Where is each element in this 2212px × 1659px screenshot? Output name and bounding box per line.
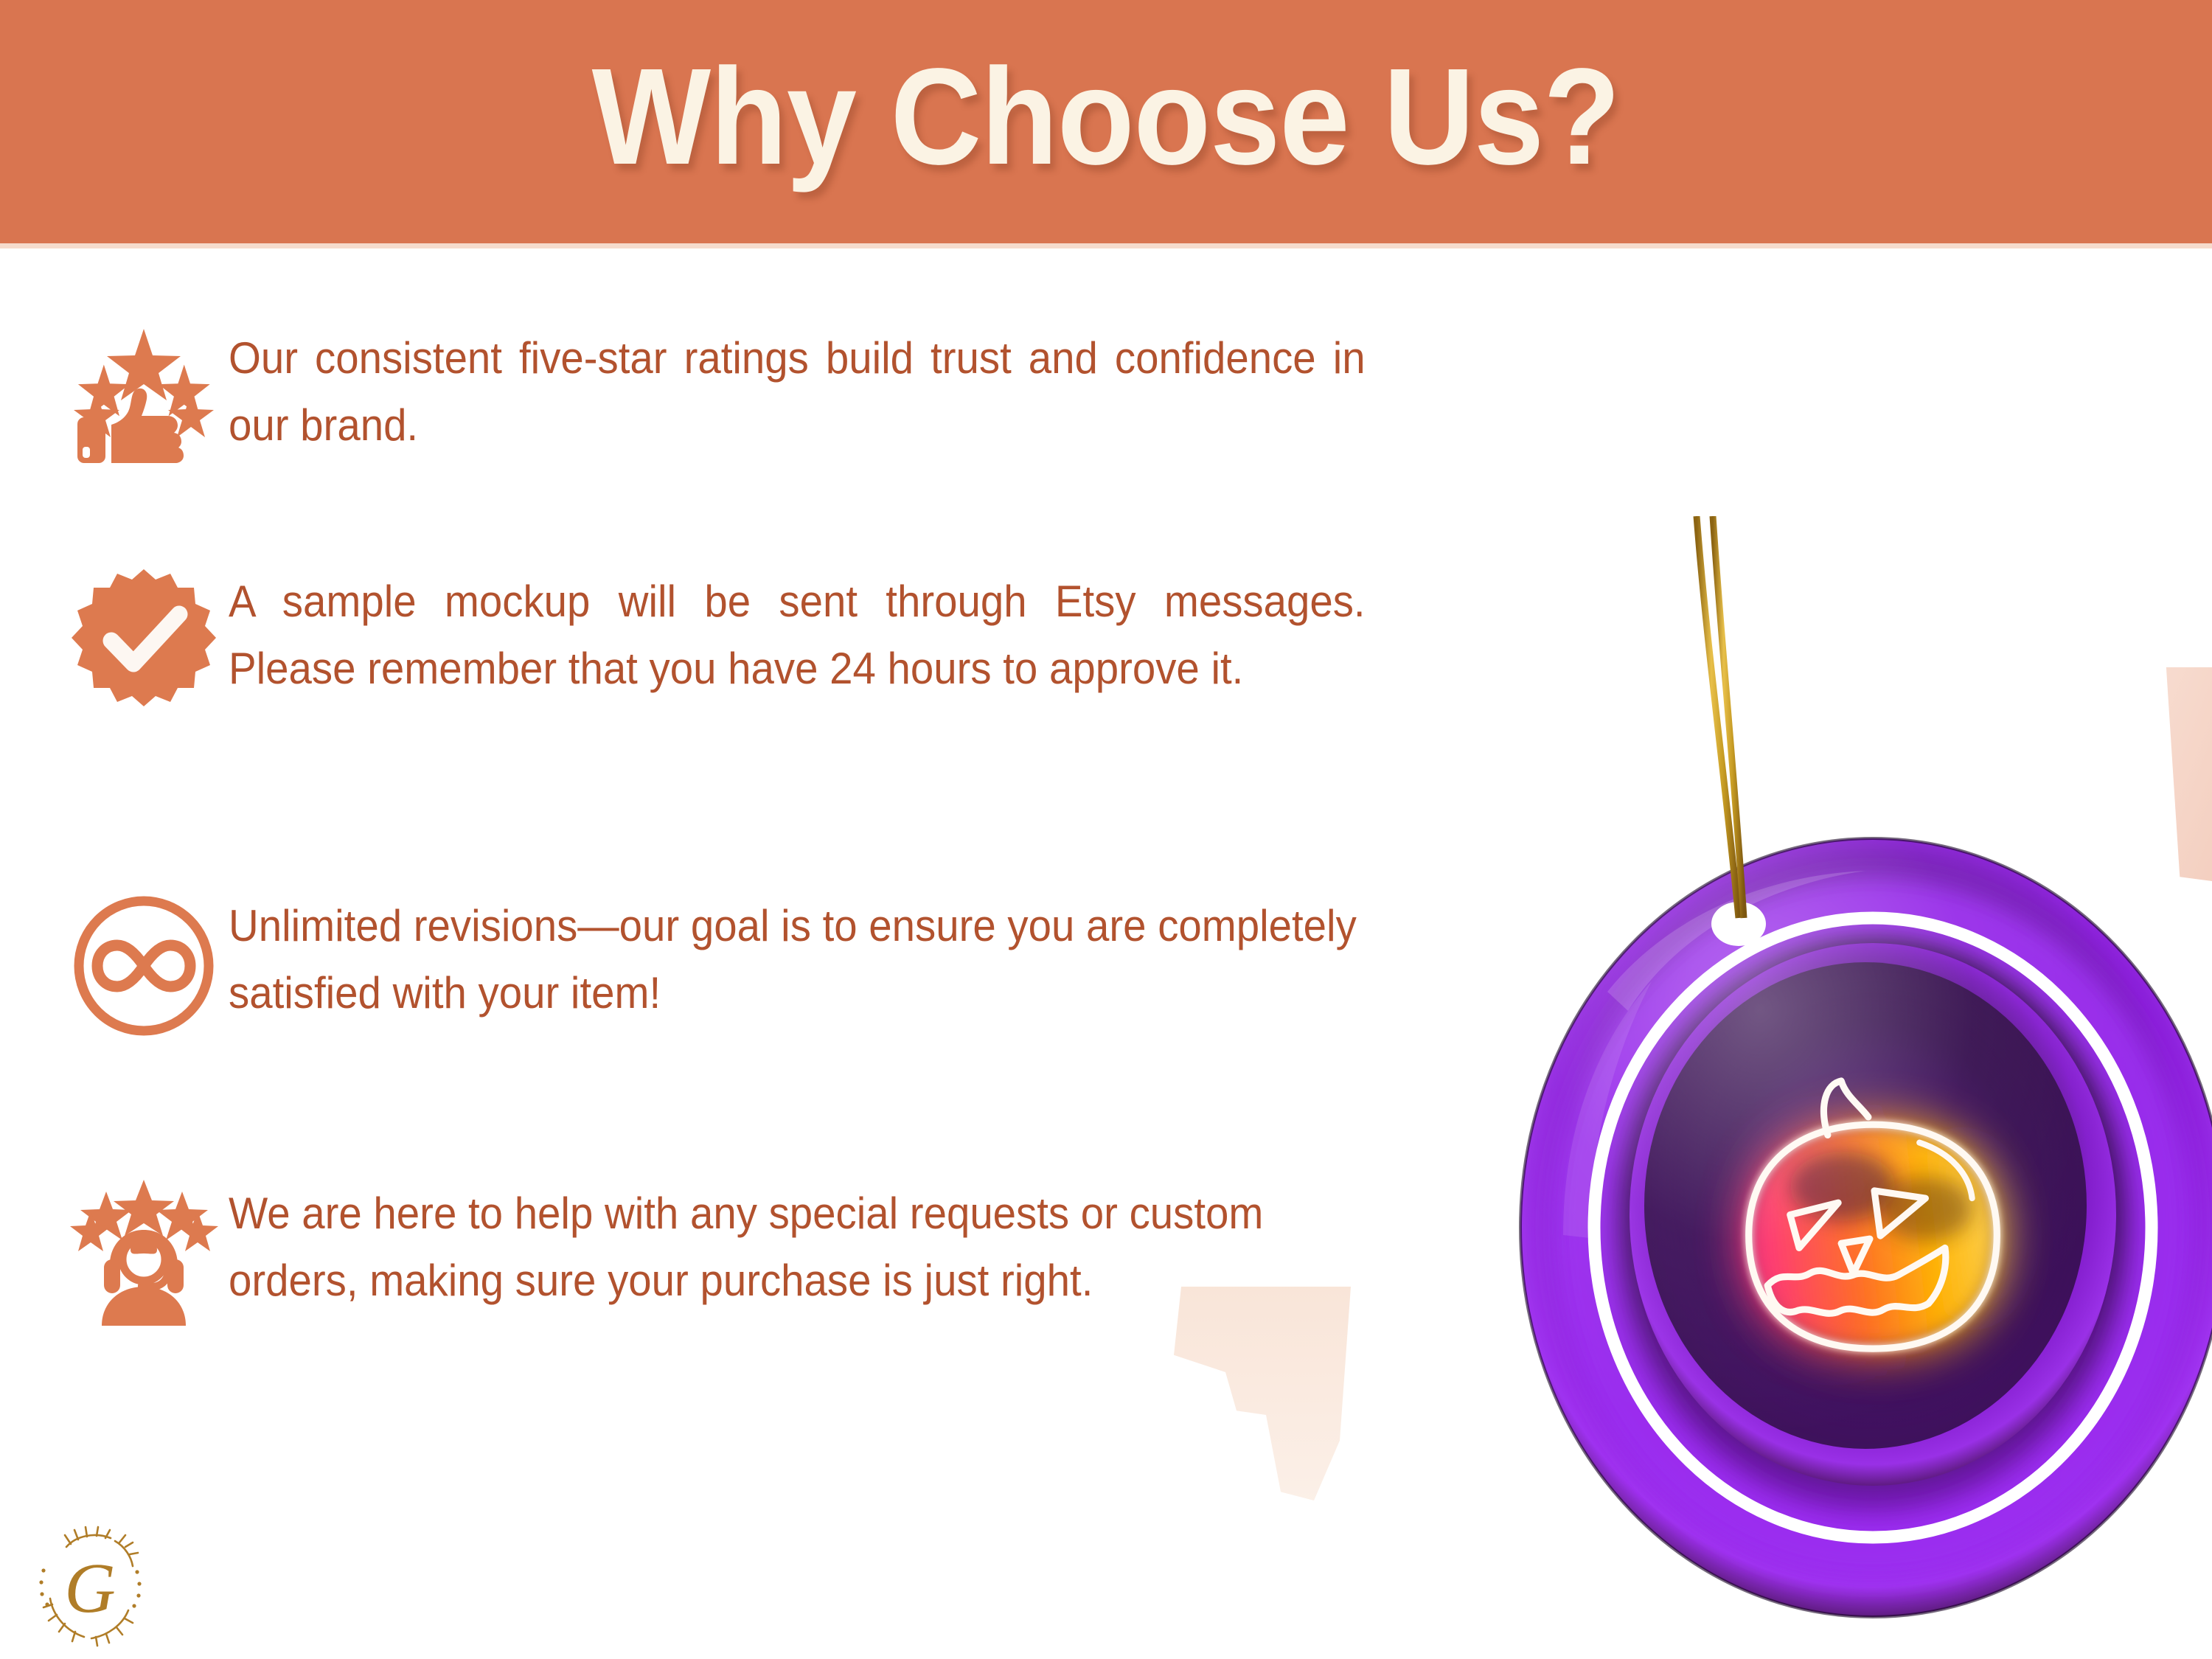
feature-item-custom-support: We are here to help with any special req… — [59, 1180, 1423, 1327]
feature-text: Unlimited revisions—our goal is to ensur… — [229, 892, 1372, 1026]
verified-badge-check-icon — [70, 568, 218, 715]
feature-item-unlimited-revisions: Unlimited revisions—our goal is to ensur… — [59, 892, 1445, 1040]
product-ornament — [1467, 516, 2212, 1548]
ornament-disc — [1519, 837, 2212, 1618]
feature-item-mockup-approval: A sample mockup will be sent through Ets… — [59, 568, 1438, 715]
infinity-circle-icon — [70, 892, 218, 1040]
logo-monogram: G — [64, 1548, 115, 1627]
feature-text: A sample mockup will be sent through Ets… — [229, 568, 1366, 702]
customer-support-agent-stars-icon — [69, 1180, 220, 1327]
five-star-thumbs-up-icon — [70, 324, 218, 465]
feature-text: We are here to help with any special req… — [229, 1180, 1352, 1314]
feature-icon-slot — [59, 568, 229, 715]
feature-list: Our consistent five-star ratings build t… — [0, 243, 1519, 1394]
feature-item-ratings: Our consistent five-star ratings build t… — [59, 324, 1438, 465]
gold-cord-icon — [1692, 516, 1773, 929]
brand-logo: G — [28, 1525, 153, 1650]
feature-icon-slot — [59, 892, 229, 1040]
feature-text: Our consistent five-star ratings build t… — [229, 324, 1366, 459]
feature-icon-slot — [59, 324, 229, 465]
page-title: Why Choose Us? — [592, 49, 1620, 186]
feature-icon-slot — [59, 1180, 229, 1327]
page-header-band: Why Choose Us? — [0, 0, 2212, 243]
